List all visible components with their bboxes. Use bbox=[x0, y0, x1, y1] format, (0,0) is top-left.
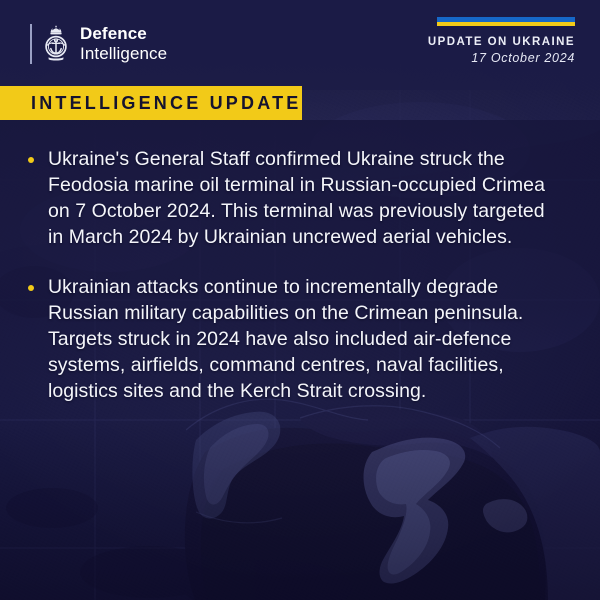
defence-intelligence-crest-icon bbox=[41, 23, 71, 65]
list-item: Ukraine's General Staff confirmed Ukrain… bbox=[28, 146, 558, 250]
logo-line-intelligence: Intelligence bbox=[80, 44, 167, 64]
update-kicker: UPDATE ON UKRAINE bbox=[255, 36, 575, 48]
ukraine-flag-bar-icon bbox=[437, 17, 575, 26]
update-date: 17 October 2024 bbox=[255, 51, 575, 65]
bullet-list: Ukraine's General Staff confirmed Ukrain… bbox=[28, 146, 558, 404]
logo-line-defence: Defence bbox=[80, 24, 167, 44]
bullet-dot-icon bbox=[28, 157, 34, 163]
bullet-dot-icon bbox=[28, 285, 34, 291]
logo-divider-rule bbox=[30, 24, 32, 64]
bullet-text: Ukraine's General Staff confirmed Ukrain… bbox=[48, 146, 558, 250]
intelligence-update-banner: INTELLIGENCE UPDATE bbox=[0, 86, 302, 120]
bullet-text: Ukrainian attacks continue to incrementa… bbox=[48, 274, 558, 404]
logo-wordmark: Defence Intelligence bbox=[80, 24, 167, 64]
flag-stripe-yellow bbox=[437, 22, 575, 26]
banner-label: INTELLIGENCE UPDATE bbox=[0, 93, 301, 114]
defence-intelligence-logo: Defence Intelligence bbox=[30, 22, 167, 66]
intelligence-update-poster: Defence Intelligence UPDATE ON UKRAINE 1… bbox=[0, 0, 600, 600]
list-item: Ukrainian attacks continue to incrementa… bbox=[28, 274, 558, 404]
